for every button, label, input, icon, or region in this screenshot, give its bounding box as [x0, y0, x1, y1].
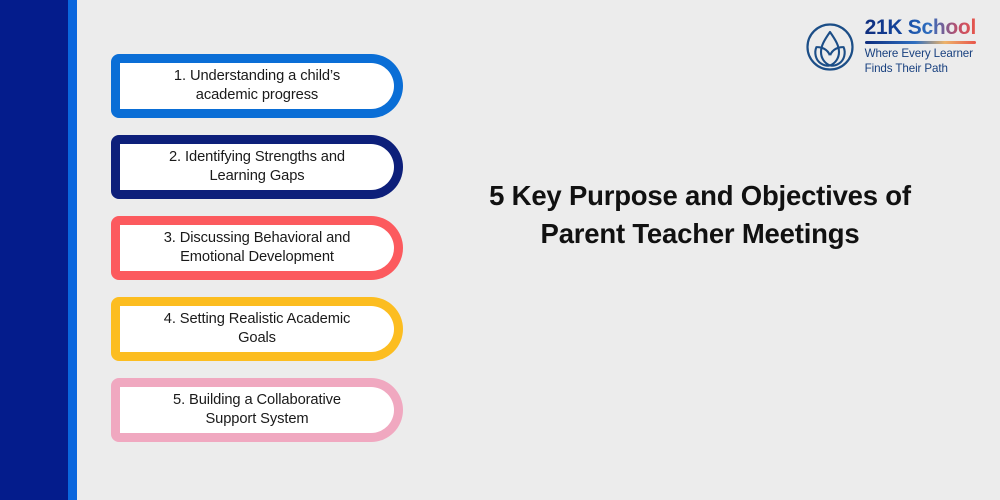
- objective-pill-1: 1. Understanding a child’s academic prog…: [111, 54, 403, 118]
- objective-pill-label: 3. Discussing Behavioral and Emotional D…: [164, 229, 351, 267]
- brand-logo: 21K School Where Every Learner Finds The…: [805, 17, 976, 77]
- brand-tagline-line-2: Finds Their Path: [865, 62, 976, 77]
- objective-pill-label: 5. Building a Collaborative Support Syst…: [173, 391, 341, 429]
- brand-underline: [865, 41, 976, 44]
- brand-text-block: 21K School Where Every Learner Finds The…: [865, 17, 976, 77]
- objective-pill-3: 3. Discussing Behavioral and Emotional D…: [111, 216, 403, 280]
- page-title: 5 Key Purpose and Objectives of Parent T…: [440, 177, 960, 253]
- objective-pill-4: 4. Setting Realistic Academic Goals: [111, 297, 403, 361]
- left-blue-accent-bar: [68, 0, 77, 500]
- objective-pill-label: 1. Understanding a child’s academic prog…: [174, 67, 340, 105]
- brand-name: 21K School: [865, 17, 976, 38]
- objective-pill-2: 2. Identifying Strengths and Learning Ga…: [111, 135, 403, 199]
- objectives-list: 1. Understanding a child’s academic prog…: [111, 54, 403, 459]
- objective-pill-label: 2. Identifying Strengths and Learning Ga…: [169, 148, 345, 186]
- lotus-circle-icon: [805, 22, 855, 72]
- objective-pill-5: 5. Building a Collaborative Support Syst…: [111, 378, 403, 442]
- brand-tagline-line-1: Where Every Learner: [865, 47, 976, 62]
- objective-pill-label: 4. Setting Realistic Academic Goals: [164, 310, 351, 348]
- left-navy-bar: [0, 0, 68, 500]
